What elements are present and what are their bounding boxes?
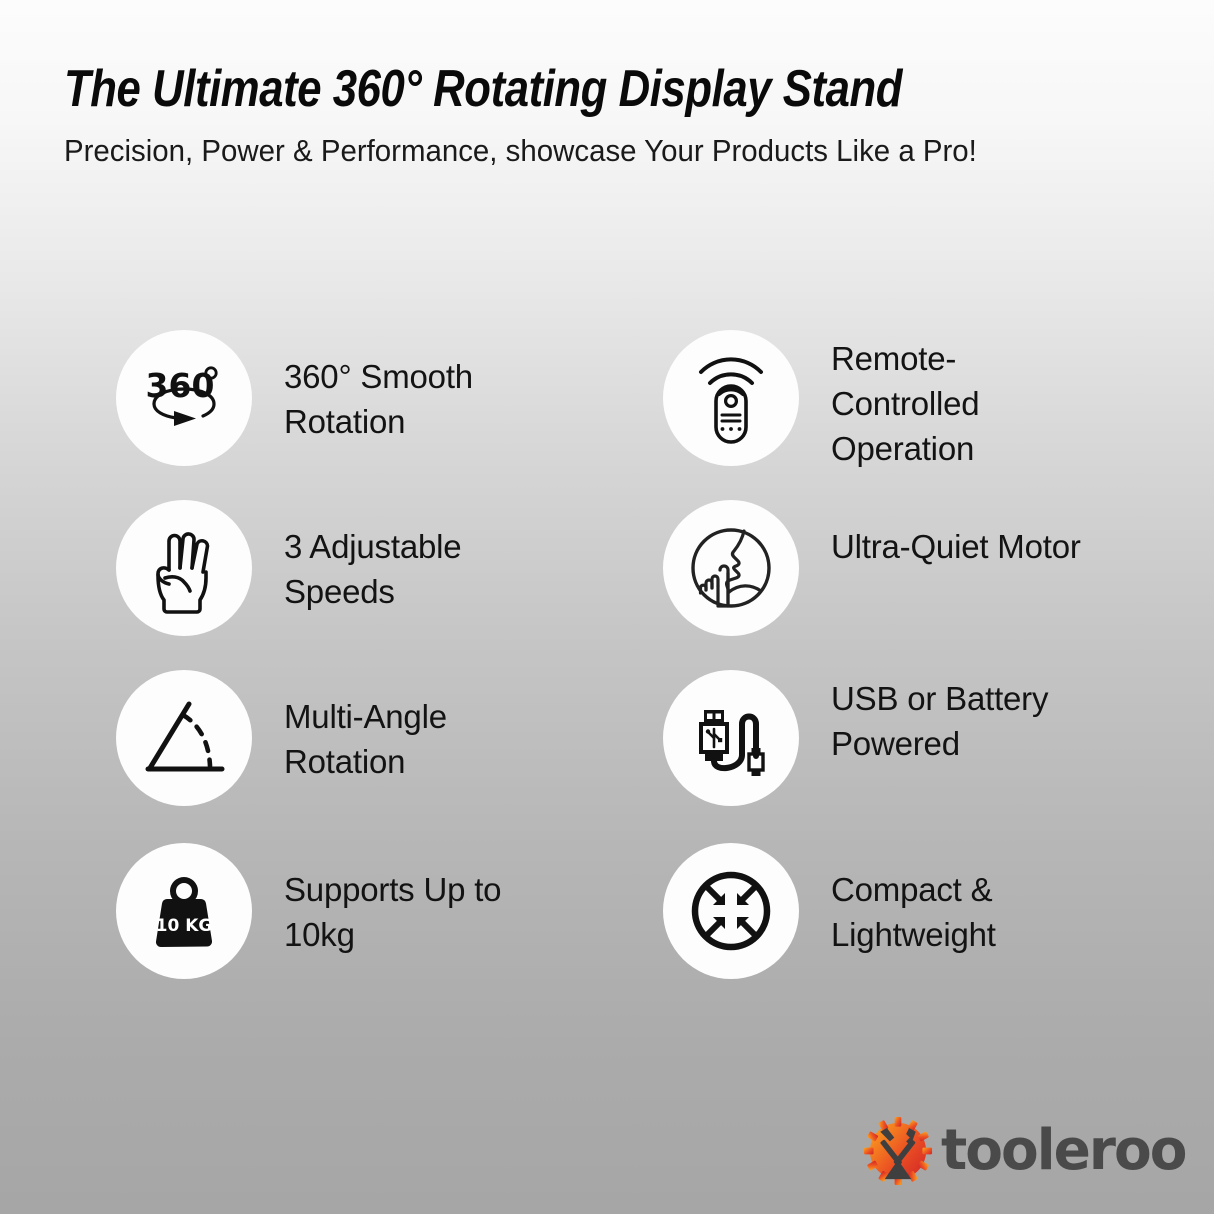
angle-protractor-icon [116,670,252,806]
three-fingers-hand-icon [116,500,252,636]
feature-label: 360° Smooth Rotation [252,330,552,444]
feature-label: Multi-Angle Rotation [252,670,552,784]
header: The Ultimate 360° Rotating Display Stand… [64,62,1154,170]
feature-item-supports-up-to-10kg: 10 KG Supports Up to 10kg [116,843,663,1018]
compress-arrows-icon [663,843,799,979]
feature-label: Supports Up to 10kg [252,843,552,957]
remote-control-icon [663,330,799,466]
feature-label: Compact & Lightweight [799,843,1099,957]
feature-grid: 360 360° Smooth Rotation [0,330,1214,1018]
page-title: The Ultimate 360° Rotating Display Stand [64,62,980,116]
feature-label: Ultra-Quiet Motor [799,500,1081,569]
feature-item-multi-angle-rotation: Multi-Angle Rotation [116,670,663,843]
usb-cable-icon [663,670,799,806]
brand-logo: tooleroo [861,1114,1190,1188]
gear-hammer-wrench-icon [861,1114,935,1188]
feature-label: USB or Battery Powered [799,670,1099,766]
feature-label: Remote-Controlled Operation [799,330,1099,472]
feature-item-360-smooth-rotation: 360 360° Smooth Rotation [116,330,663,500]
feature-item-remote-controlled-operation: Remote-Controlled Operation [663,330,1210,500]
logo-wordmark: tooleroo [941,1123,1185,1179]
weight-10kg-icon: 10 KG [116,843,252,979]
page-subtitle: Precision, Power & Performance, showcase… [64,132,1116,170]
feature-item-3-adjustable-speeds: 3 Adjustable Speeds [116,500,663,670]
feature-item-usb-or-battery-powered: USB or Battery Powered [663,670,1210,843]
quiet-shush-face-icon [663,500,799,636]
feature-label: 3 Adjustable Speeds [252,500,552,614]
feature-item-ultra-quiet-motor: Ultra-Quiet Motor [663,500,1210,670]
360-rotation-icon: 360 [116,330,252,466]
weight-badge-text: 10 KG [156,916,213,936]
svg-text:360: 360 [146,366,215,405]
feature-item-compact-lightweight: Compact & Lightweight [663,843,1210,1018]
